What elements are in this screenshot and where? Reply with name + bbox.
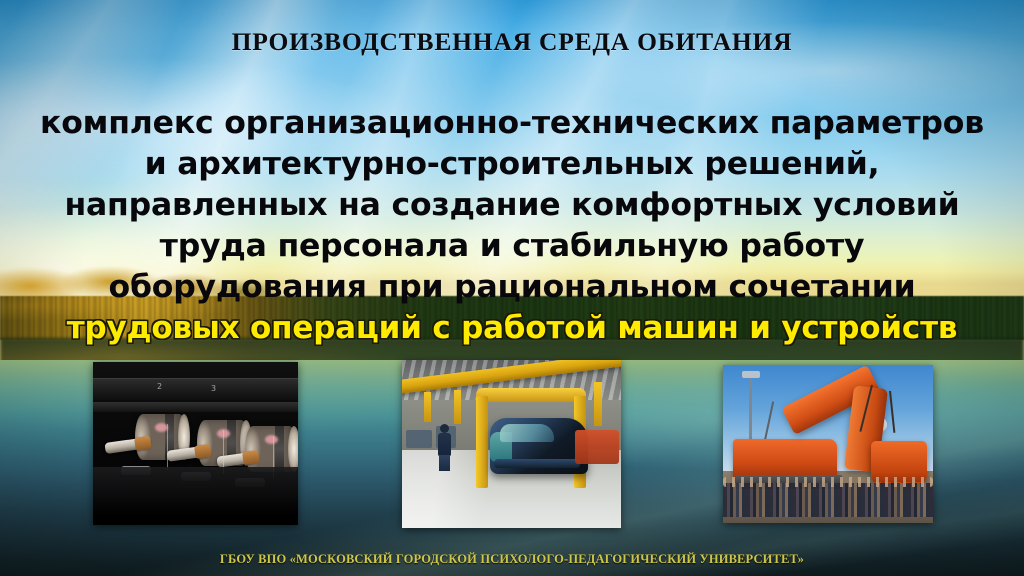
red-machinery [575, 430, 619, 464]
presentation-slide: ПРОИЗВОДСТВЕННАЯ СРЕДА ОБИТАНИЯ комплекс… [0, 0, 1024, 576]
machine-base-shadow [93, 467, 298, 525]
machine-rail-upper [93, 378, 298, 400]
excavator-house [733, 439, 837, 479]
carrier-post-left [476, 396, 488, 488]
slide-body-text: комплекс организационно-технических пара… [0, 103, 1024, 349]
copper-collar-2 [194, 444, 212, 459]
body-line-5: оборудования при рациональном сочетании [0, 267, 1024, 308]
copper-collar-1 [134, 436, 152, 451]
body-line-4: труда персонала и стабильную работу [0, 226, 1024, 267]
conveyor-hanger-2 [454, 390, 461, 424]
copper-collar-3 [242, 450, 260, 465]
car-assembly-line-photo [402, 360, 621, 528]
machine-station-number-3: 3 [211, 384, 216, 393]
carrier-beam [476, 388, 586, 402]
car-windshield-opening [500, 424, 554, 442]
textile-winding-machine-photo: 2 3 [93, 362, 298, 525]
spool-band-3 [275, 426, 284, 472]
machine-station-number-2: 2 [157, 382, 162, 391]
slide-title: ПРОИЗВОДСТВЕННАЯ СРЕДА ОБИТАНИЯ [0, 27, 1024, 57]
floodlight-pole [749, 375, 752, 447]
assembly-line-worker [438, 424, 451, 470]
car-sill [494, 459, 580, 468]
worker-legs [439, 455, 450, 471]
yarn-spool-3 [245, 426, 297, 472]
spectator-crowd [723, 483, 933, 517]
photo-1-frame: 2 3 [93, 362, 298, 525]
body-line-3: направленных на создание комфортных усло… [0, 185, 1024, 226]
mining-excavator-photo [723, 365, 933, 523]
spool-marker-3 [265, 435, 278, 444]
worker-torso [438, 433, 451, 457]
conveyor-hanger-1 [424, 392, 431, 422]
body-line-2: и архитектурно-строительных решений, [0, 144, 1024, 185]
body-line-1: комплекс организационно-технических пара… [0, 103, 1024, 144]
machine-rail-lower [93, 402, 298, 412]
photo-1-scene: 2 3 [93, 362, 298, 525]
car-body-shell [490, 418, 588, 474]
body-line-6-highlighted: трудовых операций с работой машин и устр… [0, 308, 1024, 349]
conveyor-hanger-3 [594, 382, 602, 426]
worker-head [440, 424, 449, 433]
background-equipment-1 [406, 430, 432, 448]
university-footer-caption: ГБОУ ВПО «МОСКОВСКИЙ ГОРОДСКОЙ ПСИХОЛОГО… [0, 552, 1024, 567]
yarn-thread-1 [167, 424, 168, 470]
